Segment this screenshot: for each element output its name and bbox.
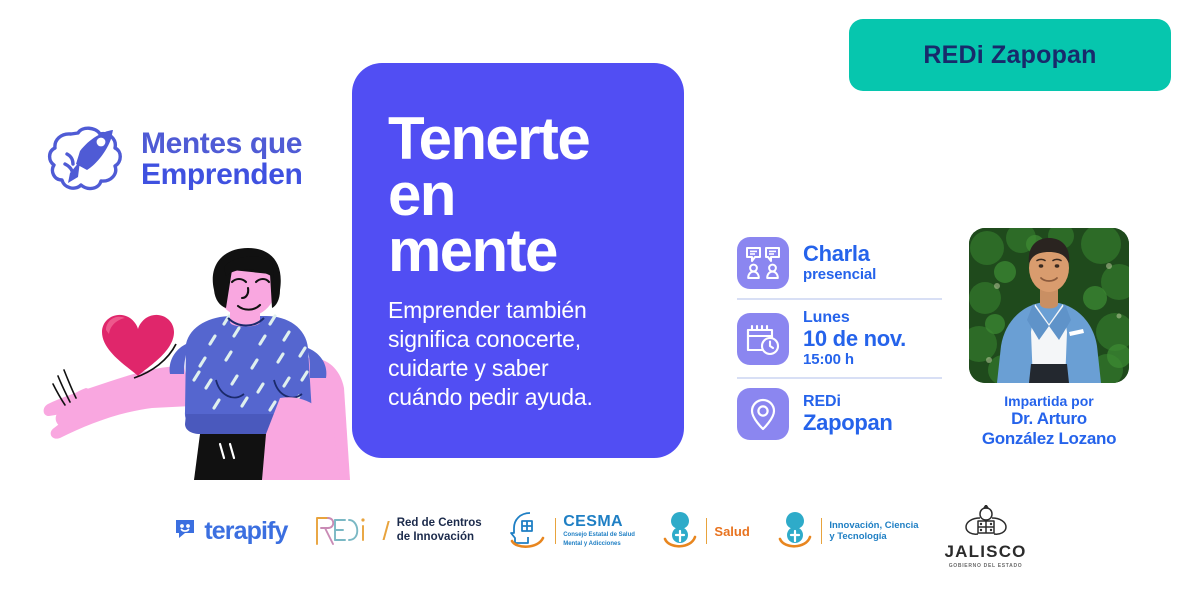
subtitle-line-4: cuándo pedir ayuda. xyxy=(388,384,593,410)
ict-wordmark: Innovación, Ciencia y Tecnología xyxy=(829,520,918,543)
jalisco-coat-of-arms-icon xyxy=(963,505,1009,542)
title-line-3: mente xyxy=(388,217,557,284)
brain-rocket-icon xyxy=(45,120,127,198)
redi-wordmark: Red de Centros de Innovación xyxy=(397,517,482,544)
brand-wordmark: Mentes que Emprenden xyxy=(141,128,302,190)
speaker-name-line-2: González Lozano xyxy=(969,429,1129,449)
salud-emblem-icon xyxy=(661,507,699,556)
woman-holding-heart-illustration xyxy=(34,248,354,480)
sponsor-redi: / Red de Centros de Innovación xyxy=(313,505,481,557)
speaker-block: Impartida por Dr. Arturo González Lozano xyxy=(969,228,1129,449)
sponsor-ict: Innovación, Ciencia y Tecnología xyxy=(776,505,919,557)
calendar-clock-icon xyxy=(737,313,789,365)
date-time: 15:00 h xyxy=(803,352,906,369)
main-title-card: Tenerte en mente Emprender también signi… xyxy=(352,63,684,458)
cesma-wordmark: CESMA Consejo Estatal de Salud Mental y … xyxy=(563,514,635,549)
redi-zapopan-badge: REDi Zapopan xyxy=(849,19,1171,91)
cesma-name: CESMA xyxy=(563,514,635,530)
page-title: Tenerte en mente xyxy=(388,111,650,278)
detail-text-format: Charla presencial xyxy=(803,242,876,283)
date-primary: 10 de nov. xyxy=(803,327,906,352)
cesma-divider xyxy=(555,518,557,544)
redi-logo-icon xyxy=(313,510,375,553)
ict-divider xyxy=(821,518,823,544)
subtitle-line-1: Emprender también xyxy=(388,297,587,323)
sponsor-cesma: CESMA Consejo Estatal de Salud Mental y … xyxy=(508,505,635,557)
card-subtitle: Emprender también significa conocerte, c… xyxy=(388,296,650,412)
redi-divider: / xyxy=(382,516,389,547)
date-pre: Lunes xyxy=(803,309,906,327)
poster-canvas: REDi Zapopan Mentes que Emprenden xyxy=(0,0,1200,600)
speaker-name-line-1: Dr. Arturo xyxy=(969,409,1129,429)
smiley-speech-bubble-icon xyxy=(173,517,197,546)
salud-emblem-icon xyxy=(776,507,814,556)
speaker-prefix: Impartida por xyxy=(969,393,1129,409)
brand-line-1: Mentes que xyxy=(141,128,302,159)
badge-label: REDi Zapopan xyxy=(923,41,1096,70)
brand-line-2: Emprenden xyxy=(141,159,302,190)
cesma-sub-line-1: Consejo Estatal de Salud xyxy=(563,532,635,540)
redi-line-1: Red de Centros xyxy=(397,517,482,531)
brand-logo: Mentes que Emprenden xyxy=(45,120,302,198)
speaker-caption: Impartida por Dr. Arturo González Lozano xyxy=(969,393,1129,449)
location-pin-icon xyxy=(737,388,789,440)
salud-divider xyxy=(706,518,708,544)
sponsor-salud: Salud xyxy=(661,505,750,557)
cesma-sub-line-2: Mental y Adicciones xyxy=(563,541,635,549)
subtitle-line-3: cuidarte y saber xyxy=(388,355,548,381)
speaker-portrait xyxy=(969,228,1129,383)
format-primary: Charla xyxy=(803,242,876,267)
redi-line-2: de Innovación xyxy=(397,531,482,545)
salud-wordmark: Salud xyxy=(714,524,749,539)
detail-text-location: REDi Zapopan xyxy=(803,393,893,436)
two-people-speech-bubbles-icon xyxy=(737,237,789,289)
detail-row-location: REDi Zapopan xyxy=(737,377,942,449)
format-secondary: presencial xyxy=(803,267,876,284)
ict-line-2: y Tecnología xyxy=(829,531,918,542)
detail-row-date: Lunes 10 de nov. 15:00 h xyxy=(737,298,942,377)
jalisco-subtitle: GOBIERNO DEL ESTADO xyxy=(949,563,1023,569)
event-details: Charla presencial Lunes xyxy=(737,228,942,449)
ict-line-1: Innovación, Ciencia xyxy=(829,520,918,531)
sponsor-jalisco: JALISCO GOBIERNO DEL ESTADO xyxy=(945,505,1027,557)
location-primary: Zapopan xyxy=(803,411,893,436)
terapify-wordmark: terapify xyxy=(204,517,287,546)
detail-text-date: Lunes 10 de nov. 15:00 h xyxy=(803,309,906,368)
location-pre: REDi xyxy=(803,393,893,411)
sponsor-terapify: terapify xyxy=(173,505,287,557)
sponsor-bar: terapify xyxy=(0,498,1200,564)
subtitle-line-2: significa conocerte, xyxy=(388,326,581,352)
detail-row-format: Charla presencial xyxy=(737,228,942,298)
head-profile-icon xyxy=(508,507,548,556)
jalisco-wordmark: JALISCO xyxy=(945,543,1027,560)
